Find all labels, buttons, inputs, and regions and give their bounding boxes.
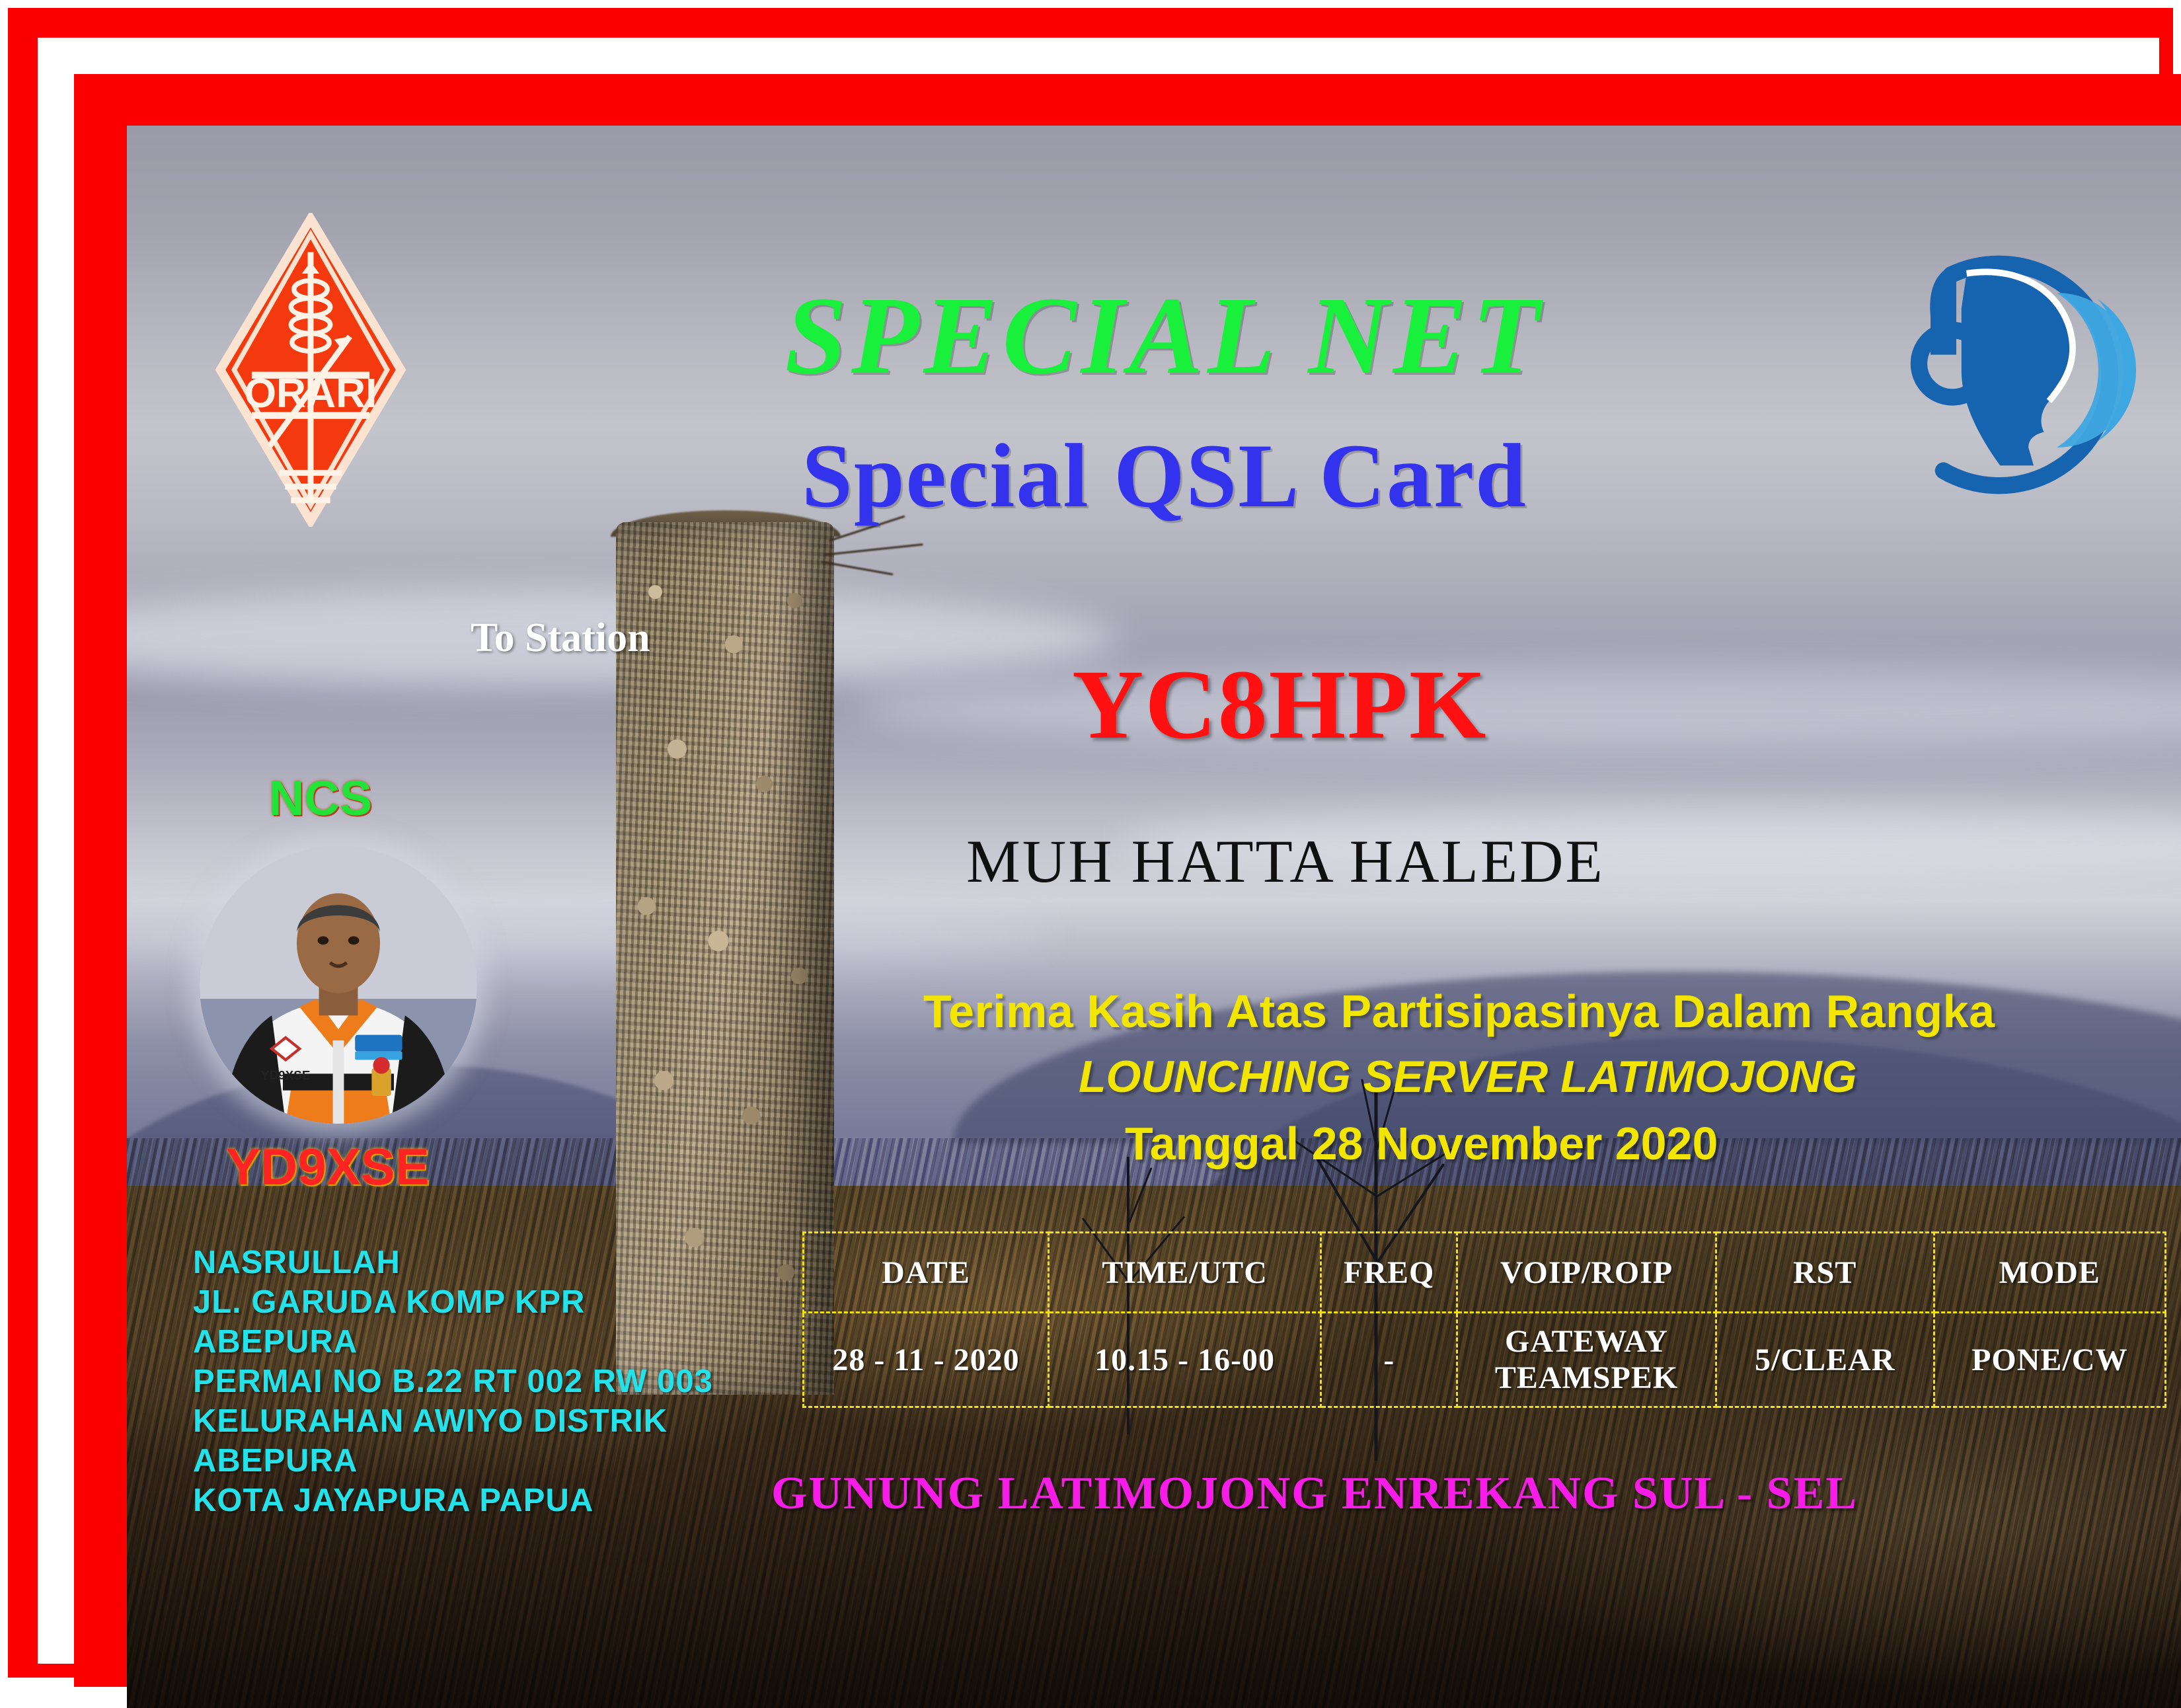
address-line: ABEPURA [193,1441,713,1481]
slogan-text: "AMATIR RADIO ADALAH PROGRESIVE" [206,1705,1188,1708]
event-line: LOUNCHING SERVER LATIMOJONG [1079,1051,1856,1103]
cell-date: 28 - 11 - 2020 [804,1313,1049,1407]
page-title: SPECIAL NET [127,272,2181,400]
sender-address-block: NASRULLAH JL. GARUDA KOMP KPR ABEPURA PE… [193,1243,713,1520]
table-row: 28 - 11 - 2020 10.15 - 16-00 - GATEWAY T… [804,1313,2166,1407]
address-line: ABEPURA [193,1322,713,1362]
callsign-value: YC8HPK [1072,648,1488,761]
cell-mode: PONE/CW [1934,1313,2165,1407]
avatar: YD9XSE [200,846,477,1124]
cell-freq: - [1321,1313,1457,1407]
cell-voip-roip-line2: TEAMSPEK [1458,1360,1715,1396]
to-station-label: To Station [471,615,650,662]
address-line: JL. GARUDA KOMP KPR [193,1282,713,1322]
location-line: GUNUNG LATIMOJONG ENREKANG SUL - SEL [771,1467,1858,1520]
column-header-time: TIME/UTC [1048,1233,1320,1313]
address-line: KELURAHAN AWIYO DISTRIK [193,1401,713,1441]
outer-red-frame: ORARI [8,8,2173,1678]
website-address: Address : amatir.latimojong.com [1383,1705,2069,1708]
cell-voip-roip-line1: GATEWAY [1458,1323,1715,1360]
cell-rst: 5/CLEAR [1716,1313,1934,1407]
qsl-card: ORARI [0,0,2181,1686]
column-header-freq: FREQ [1321,1233,1457,1313]
column-header-mode: MODE [1934,1233,2165,1313]
white-frame-gap: ORARI [38,38,2159,1664]
card-background-photo: ORARI [127,126,2181,1708]
svg-text:YD9XSE: YD9XSE [261,1069,311,1083]
cell-voip-roip: GATEWAY TEAMSPEK [1457,1313,1716,1407]
column-header-rst: RST [1716,1233,1934,1313]
ncs-callsign: YD9XSE [226,1137,430,1197]
page-subtitle: Special QSL Card [127,423,2181,528]
inner-red-frame: ORARI [74,74,2181,1687]
qso-details-table: DATE TIME/UTC FREQ VOIP/ROIP RST MODE 28… [802,1231,2166,1408]
address-line: PERMAI NO B.22 RT 002 RW 003 [193,1362,713,1401]
operator-name: MUH HATTA HALEDE [966,826,1605,896]
address-line: KOTA JAYAPURA PAPUA [193,1481,713,1520]
table-header-row: DATE TIME/UTC FREQ VOIP/ROIP RST MODE [804,1233,2166,1313]
ncs-label: NCS [269,770,372,826]
cell-time: 10.15 - 16-00 [1048,1313,1320,1407]
operator-portrait-icon: YD9XSE [200,846,477,1124]
event-date-line: Tanggal 28 November 2020 [1125,1117,1718,1170]
column-header-date: DATE [804,1233,1049,1313]
address-line: NASRULLAH [193,1243,713,1282]
column-header-voip-roip: VOIP/ROIP [1457,1233,1716,1313]
thanks-line: Terima Kasih Atas Partisipasinya Dalam R… [923,985,1995,1038]
